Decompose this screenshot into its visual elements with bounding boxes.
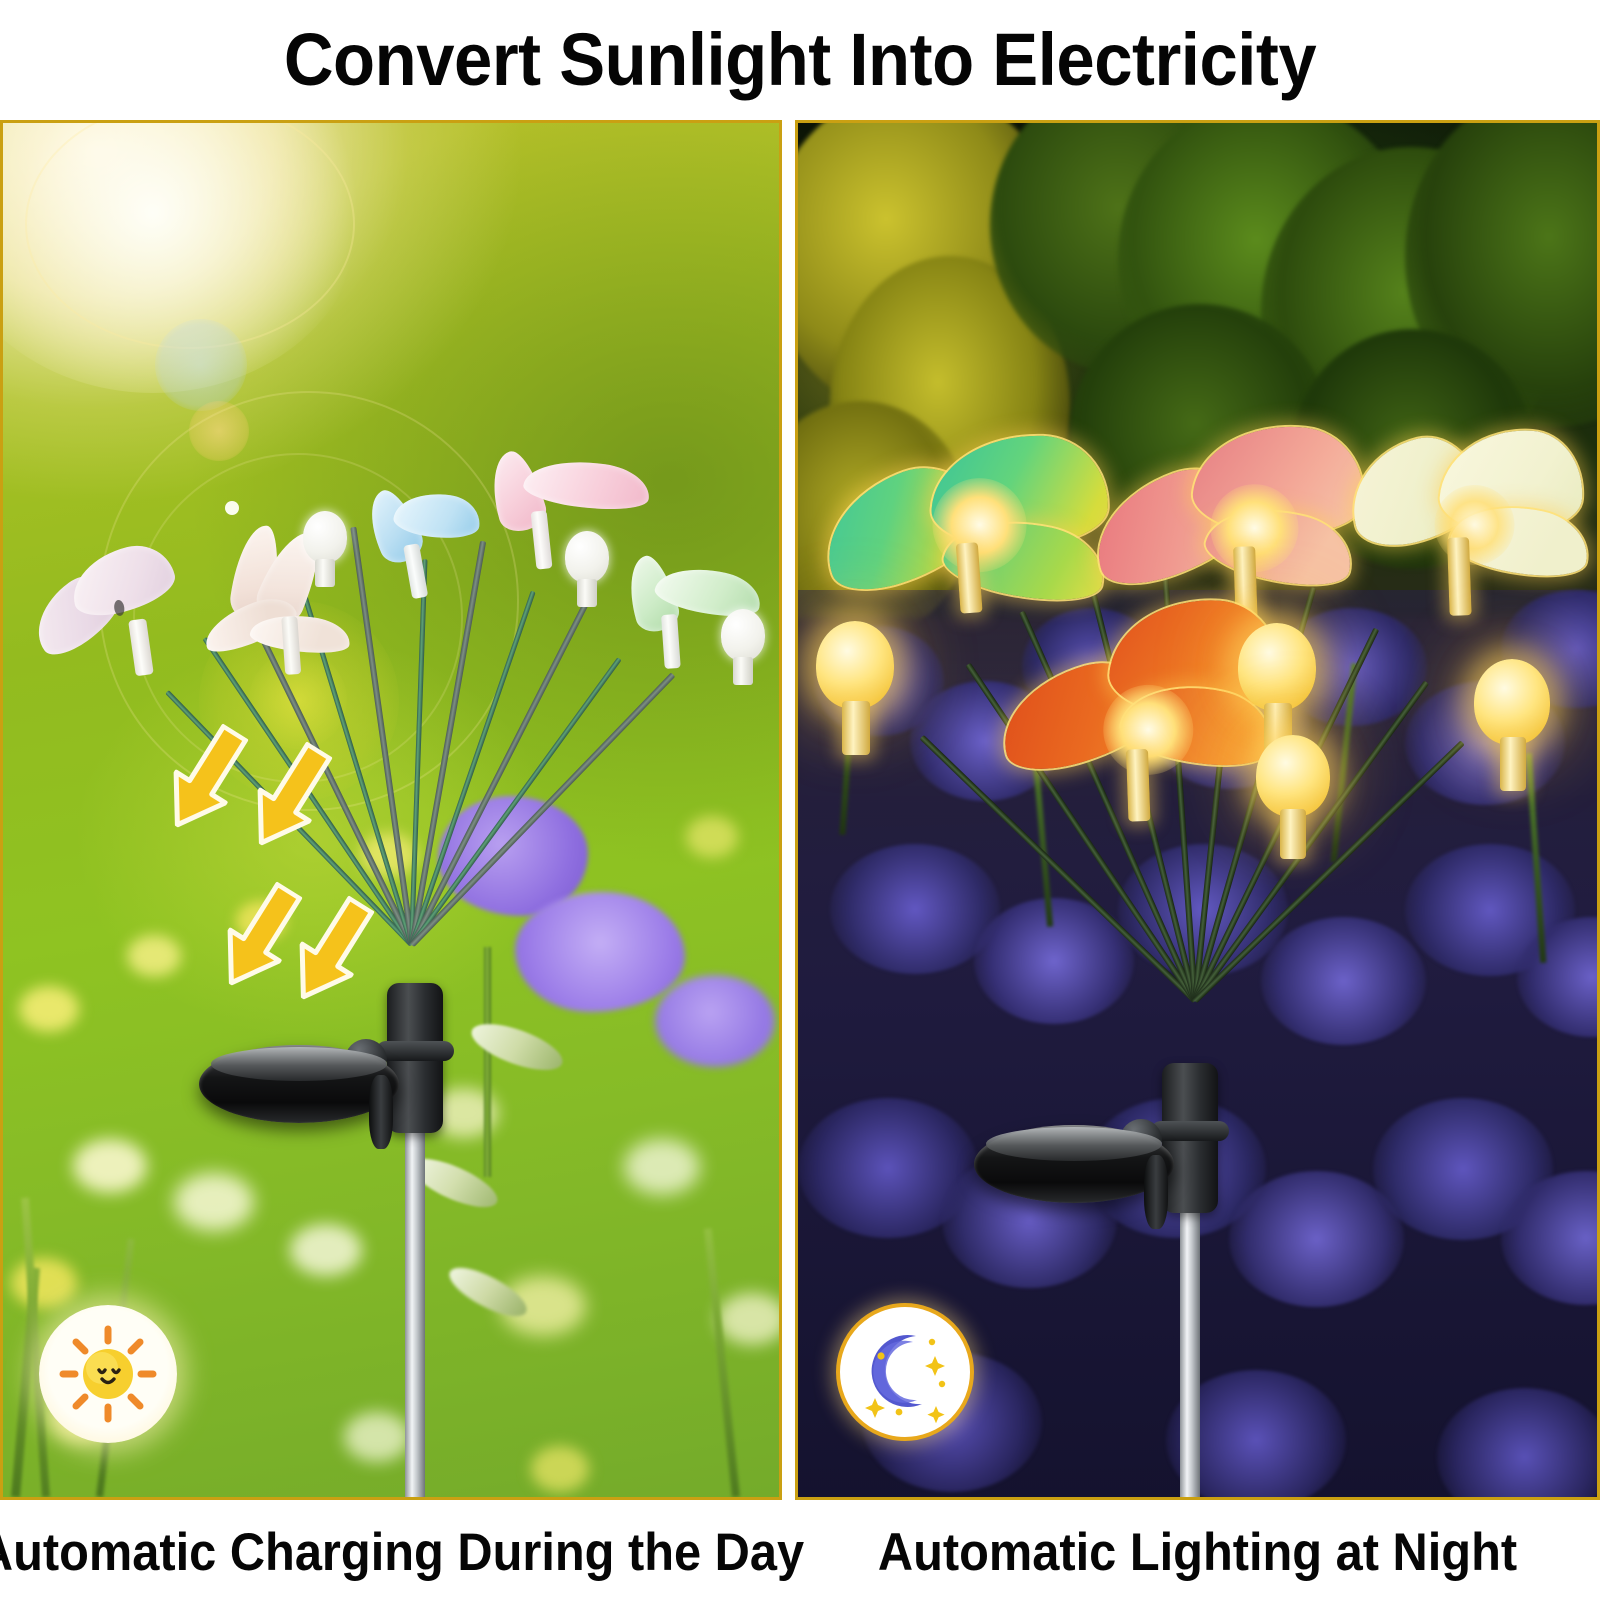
daytime-charging-panel [0,120,782,1500]
solar-panel-head [193,983,493,1243]
page-title: Convert Sunlight Into Electricity [56,0,1544,118]
crescent-moon-stars-icon [853,1320,957,1424]
sun-badge [39,1305,177,1443]
night-caption: Automatic Lighting at Night [827,1506,1568,1598]
bulb-head [721,609,765,685]
moon-badge [836,1303,974,1441]
product-feature-image: Convert Sunlight Into Electricity [0,0,1600,1600]
night-product-assembly [798,123,1597,1497]
bulb-head [565,531,609,607]
day-caption: Automatic Charging During the Day [31,1506,750,1598]
nighttime-lighting-panel [795,120,1600,1500]
day-product-assembly [3,123,779,1497]
night-scene [798,123,1597,1497]
butterfly-head [1335,410,1597,609]
butterfly-head [14,530,200,682]
day-scene [3,123,779,1497]
butterfly-head [335,471,494,613]
butterfly-head [810,413,1123,623]
solar-panel-head [968,1063,1268,1323]
sun-smiling-icon [56,1322,160,1426]
